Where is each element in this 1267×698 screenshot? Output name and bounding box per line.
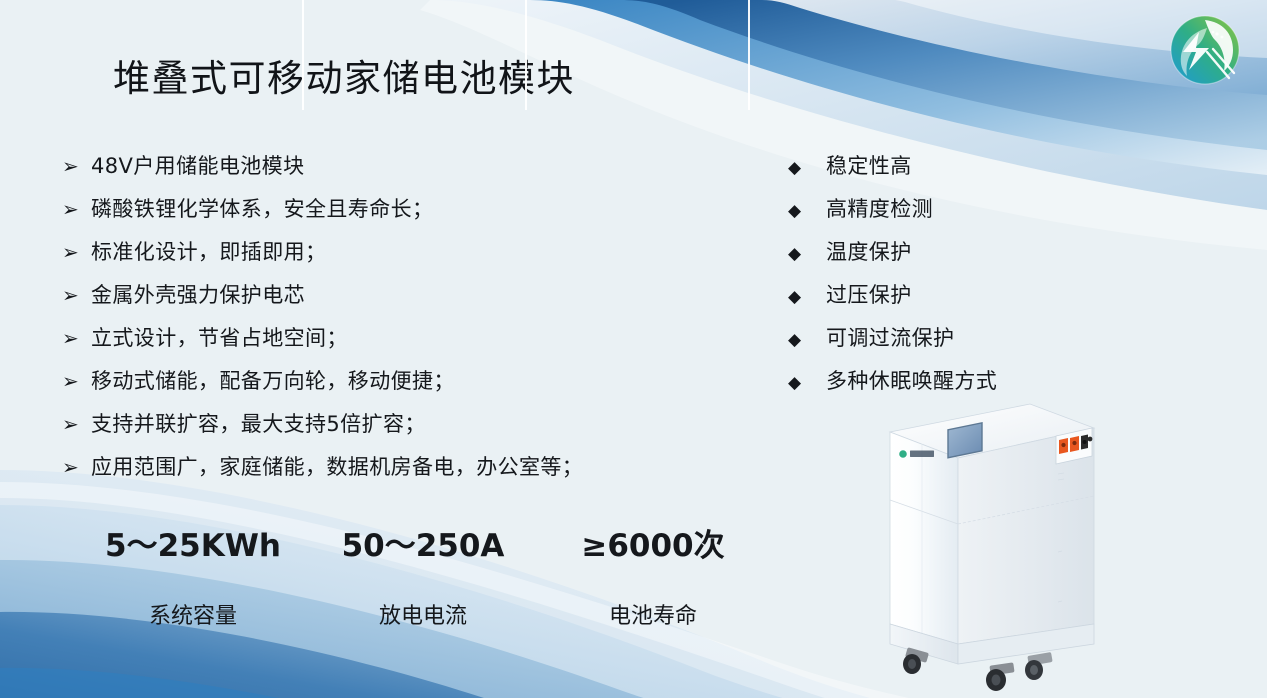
arrow-bullet-icon: ➢ (62, 412, 91, 436)
product-image (878, 392, 1114, 692)
list-item: ➢ 48V户用储能电池模块 (62, 150, 762, 193)
logo-icon (1163, 8, 1247, 92)
diamond-bullet-icon: ◆ (788, 373, 826, 393)
stat-divider (748, 0, 750, 110)
stat-value: 50～250A (342, 520, 505, 565)
page-title: 堆叠式可移动家储电池模块 (113, 53, 575, 105)
arrow-bullet-icon: ➢ (62, 455, 91, 479)
feature-list-left: ➢ 48V户用储能电池模块 ➢ 磷酸铁锂化学体系，安全且寿命长； ➢ 标准化设计… (62, 150, 762, 494)
stat-value: ≥6000次 (581, 520, 724, 565)
stat-divider (525, 0, 527, 110)
list-item-label: 金属外壳强力保护电芯 (91, 279, 305, 309)
list-item: ◆ 多种休眠唤醒方式 (788, 365, 1118, 408)
list-item: ➢ 立式设计，节省占地空间； (62, 322, 762, 365)
arrow-bullet-icon: ➢ (62, 154, 91, 178)
list-item-label: 支持并联扩容，最大支持5倍扩容； (91, 408, 426, 438)
list-item-label: 标准化设计，即插即用； (91, 236, 326, 266)
diamond-bullet-icon: ◆ (788, 158, 826, 178)
list-item: ◆ 高精度检测 (788, 193, 1118, 236)
diamond-bullet-icon: ◆ (788, 287, 826, 307)
list-item-label: 稳定性高 (826, 150, 912, 180)
list-item-label: 应用范围广，家庭储能，数据机房备电，办公室等； (91, 451, 583, 481)
list-item: ◆ 稳定性高 (788, 150, 1118, 193)
list-item-label: 多种休眠唤醒方式 (826, 365, 997, 395)
stat-discharge-current: 50～250A 放电电流 (308, 508, 538, 620)
arrow-bullet-icon: ➢ (62, 197, 91, 221)
stat-cycle-life: ≥6000次 电池寿命 (538, 508, 768, 620)
list-item: ◆ 可调过流保护 (788, 322, 1118, 365)
list-item: ➢ 磷酸铁锂化学体系，安全且寿命长； (62, 193, 762, 236)
list-item: ➢ 金属外壳强力保护电芯 (62, 279, 762, 322)
stat-label: 放电电流 (379, 598, 467, 630)
list-item: ◆ 温度保护 (788, 236, 1118, 279)
arrow-bullet-icon: ➢ (62, 283, 91, 307)
list-item-label: 移动式储能，配备万向轮，移动便捷； (91, 365, 455, 395)
list-item-label: 48V户用储能电池模块 (91, 150, 305, 180)
spec-stats-row: 5～25KWh 系统容量 50～250A 放电电流 ≥6000次 电池寿命 (78, 508, 768, 620)
stat-divider (302, 0, 304, 110)
list-item-label: 可调过流保护 (826, 322, 954, 352)
list-item-label: 过压保护 (826, 279, 912, 309)
list-item: ➢ 移动式储能，配备万向轮，移动便捷； (62, 365, 762, 408)
list-item: ➢ 支持并联扩容，最大支持5倍扩容； (62, 408, 762, 451)
arrow-bullet-icon: ➢ (62, 369, 91, 393)
product-brand-badge (899, 450, 934, 458)
list-item: ◆ 过压保护 (788, 279, 1118, 322)
list-item-label: 磷酸铁锂化学体系，安全且寿命长； (91, 193, 433, 223)
diamond-bullet-icon: ◆ (788, 201, 826, 221)
list-item-label: 温度保护 (826, 236, 912, 266)
diamond-bullet-icon: ◆ (788, 330, 826, 350)
company-logo (1163, 8, 1247, 92)
stat-label: 电池寿命 (609, 598, 697, 630)
diamond-bullet-icon: ◆ (788, 244, 826, 264)
stat-value: 5～25KWh (105, 520, 281, 565)
stat-capacity: 5～25KWh 系统容量 (78, 508, 308, 620)
stat-label: 系统容量 (149, 598, 237, 630)
list-item-label: 高精度检测 (826, 193, 933, 223)
feature-list-right: ◆ 稳定性高 ◆ 高精度检测 ◆ 温度保护 ◆ 过压保护 ◆ 可调过流保护 ◆ … (788, 150, 1118, 408)
slide-canvas: 堆叠式可移动家储电池模块 ➢ 48V户用储能电池模块 ➢ 磷酸铁锂化学体系，安全… (0, 0, 1267, 698)
arrow-bullet-icon: ➢ (62, 326, 91, 350)
list-item-label: 立式设计，节省占地空间； (91, 322, 348, 352)
list-item: ➢ 应用范围广，家庭储能，数据机房备电，办公室等； (62, 451, 762, 494)
product-display-panel (948, 423, 982, 458)
list-item: ➢ 标准化设计，即插即用； (62, 236, 762, 279)
arrow-bullet-icon: ➢ (62, 240, 91, 264)
